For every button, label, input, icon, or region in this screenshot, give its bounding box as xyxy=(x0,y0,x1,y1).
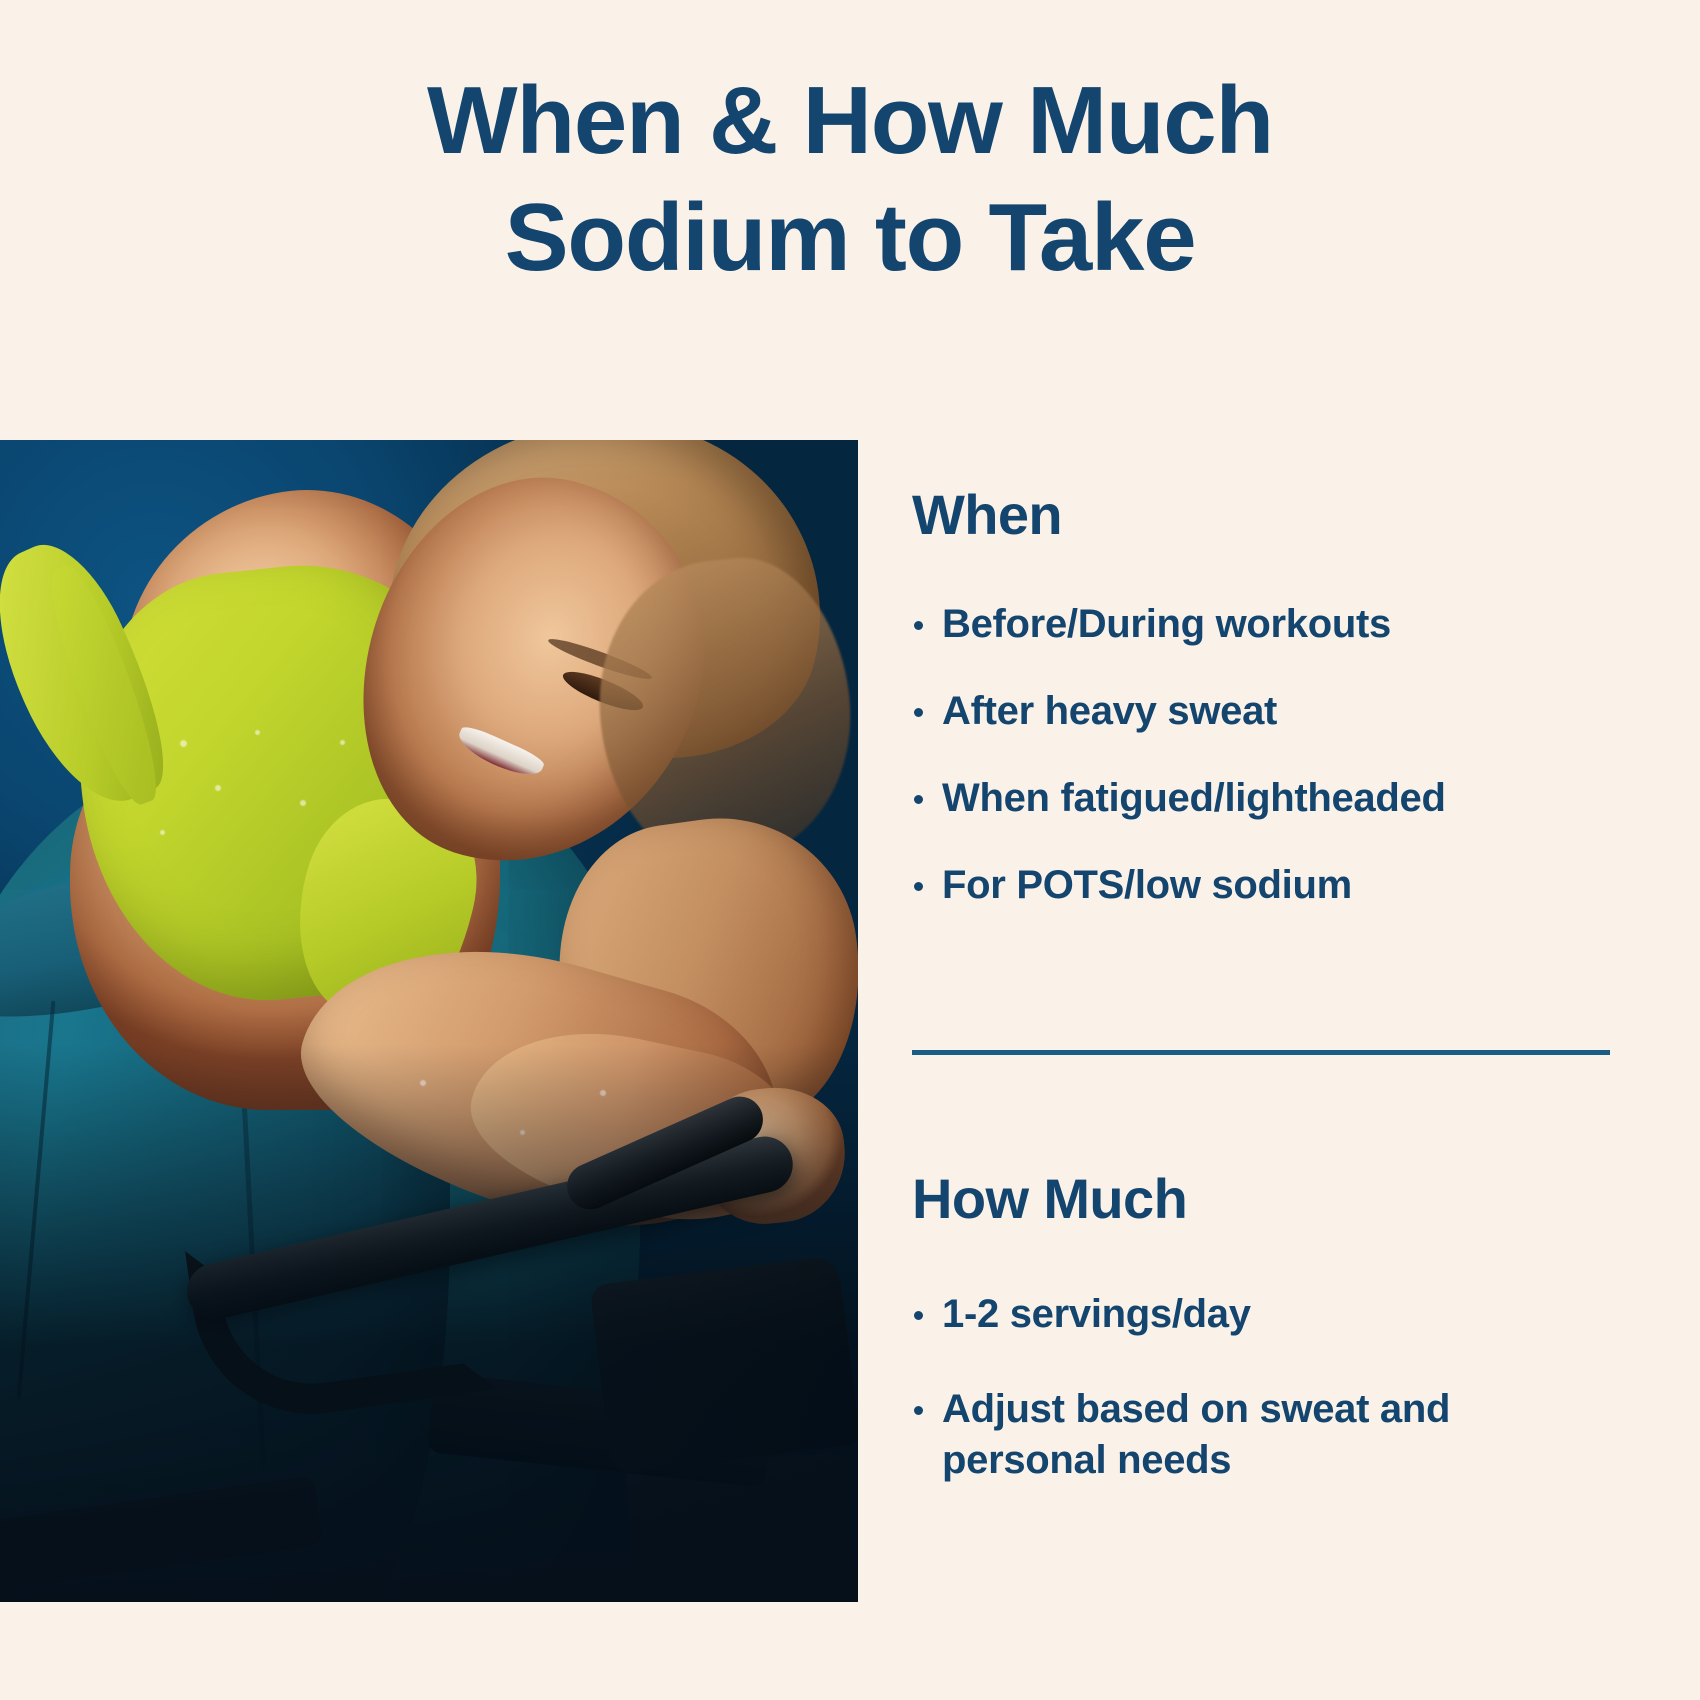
when-section: When Before/During workouts After heavy … xyxy=(912,486,1612,912)
page-title-line-1: When & How Much xyxy=(120,62,1580,179)
when-bullet-item: When fatigued/lightheaded xyxy=(912,773,1612,824)
page-title: When & How Much Sodium to Take xyxy=(0,62,1700,296)
photo-vignette xyxy=(0,440,858,1602)
when-bullet-list: Before/During workouts After heavy sweat… xyxy=(912,599,1612,912)
how-much-section: How Much 1-2 servings/day Adjust based o… xyxy=(912,1170,1612,1530)
how-much-bullet-item: 1-2 servings/day xyxy=(912,1289,1612,1340)
section-divider xyxy=(912,1050,1610,1055)
when-bullet-item: Before/During workouts xyxy=(912,599,1612,650)
how-much-heading: How Much xyxy=(912,1170,1612,1229)
when-bullet-item: For POTS/low sodium xyxy=(912,860,1612,911)
how-much-bullet-item: Adjust based on sweat and personal needs xyxy=(912,1384,1612,1486)
when-bullet-item: After heavy sweat xyxy=(912,686,1612,737)
cyclist-photo xyxy=(0,440,858,1602)
how-much-bullet-list: 1-2 servings/day Adjust based on sweat a… xyxy=(912,1289,1612,1487)
page-title-line-2: Sodium to Take xyxy=(120,179,1580,296)
when-heading: When xyxy=(912,486,1612,545)
